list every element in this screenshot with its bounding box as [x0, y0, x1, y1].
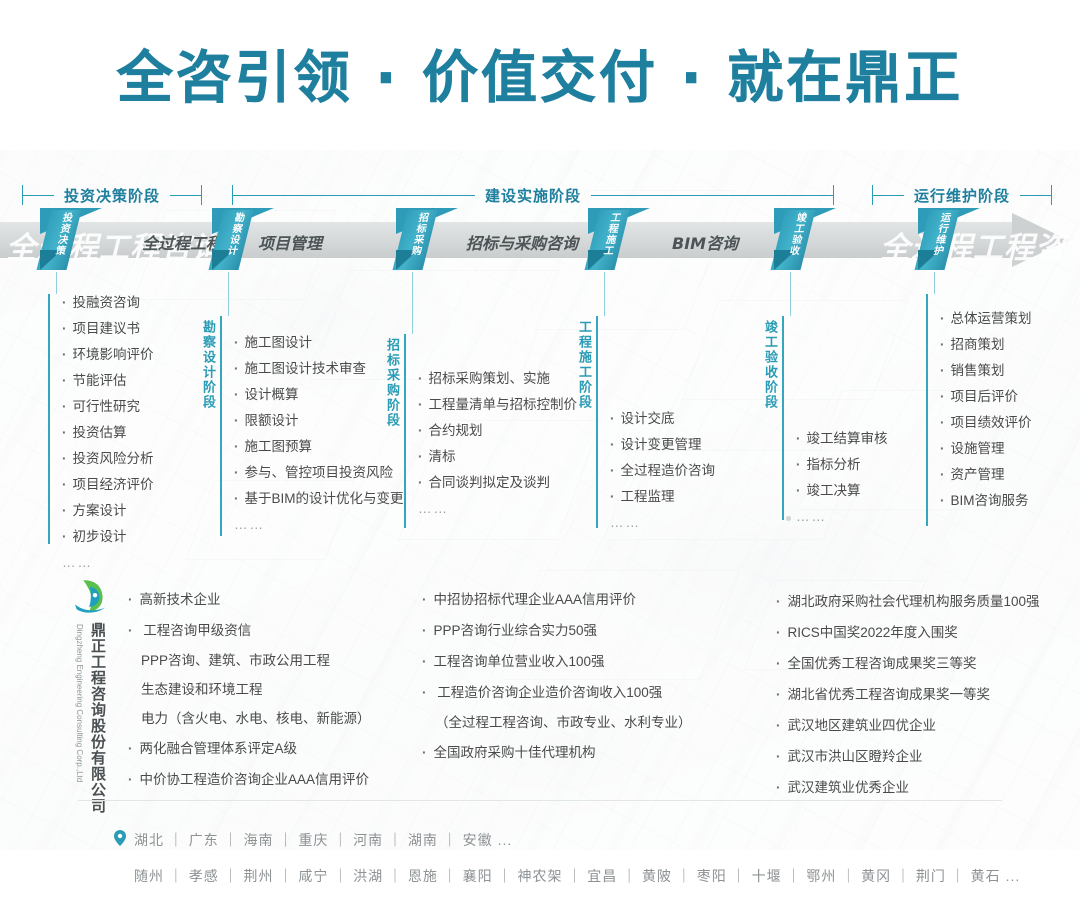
credential-item: 武汉地区建筑业四优企业	[776, 710, 1040, 741]
list-item: 投融资咨询	[62, 290, 154, 316]
phase-header-rail: 投资决策阶段 建设实施阶段 运行维护阶段	[0, 178, 1080, 212]
ribbon-tab-investment-decision[interactable]: 投资决策	[40, 208, 104, 272]
column-rule	[404, 334, 406, 528]
list-item: 工程监理	[610, 484, 715, 510]
credential-subline: （全过程工程咨询、市政专业、水利专业）	[435, 708, 692, 737]
list-item: BIM咨询服务	[940, 488, 1032, 514]
list-item: 清标	[418, 444, 577, 470]
phase-line-right	[1020, 195, 1051, 196]
phase-line-left	[233, 195, 475, 196]
ribbon-segment-bidding-procurement: 招标与采购咨询	[466, 230, 578, 252]
credentials-column-1: 高新技术企业 工程咨询甲级资信 PPP咨询、建筑、市政公用工程 生态建设和环境工…	[128, 584, 371, 795]
credential-item: 武汉市洪山区瞪羚企业	[776, 741, 1040, 772]
credential-subline: 电力（含火电、水电、核电、新能源）	[141, 704, 371, 733]
list-item: 项目经济评价	[62, 472, 154, 498]
credential-item: RICS中国奖2022年度入围奖	[776, 617, 1040, 648]
list-item: 总体运营策划	[940, 306, 1032, 332]
column-item-list: 竣工结算审核 指标分析 竣工决算 ……	[796, 426, 888, 530]
list-ellipsis: ……	[796, 504, 888, 530]
phase-label-construction: 建设实施阶段	[475, 185, 591, 206]
list-item: 设计变更管理	[610, 432, 715, 458]
page-title: 全咨引领 · 价值交付 · 就在鼎正	[117, 48, 964, 110]
company-logo-icon	[70, 576, 110, 616]
page-title-area: 全咨引领 · 价值交付 · 就在鼎正 鼎 正	[0, 48, 1080, 110]
list-item: 项目建议书	[62, 316, 154, 342]
list-item: 资产管理	[940, 462, 1032, 488]
footer-provinces: 湖北 ｜ 广东 ｜ 海南 ｜ 重庆 ｜ 河南 ｜ 湖南 ｜ 安徽 ...	[134, 830, 512, 850]
footer-cities: 随州 ｜ 孝感 ｜ 荆州 ｜ 咸宁 ｜ 洪湖 ｜ 恩施 ｜ 襄阳 ｜ 神农架 ｜…	[134, 866, 1020, 886]
column-stage-label: 竣工验收阶段	[760, 320, 777, 410]
list-item: 节能评估	[62, 368, 154, 394]
phase-group-construction: 建设实施阶段	[232, 178, 834, 212]
connector-line-6	[934, 272, 935, 294]
ribbon-tab-completion-acceptance[interactable]: 竣工验收	[774, 208, 838, 272]
phase-label-investment: 投资决策阶段	[54, 185, 170, 206]
credential-text: 工程咨询甲级资信	[143, 623, 251, 638]
list-item: 合约规划	[418, 418, 577, 444]
list-item: 设施管理	[940, 436, 1032, 462]
credential-item: 湖北省优秀工程咨询成果奖一等奖	[776, 679, 1040, 710]
list-item: 竣工决算	[796, 478, 888, 504]
credentials-column-2: 中招协招标代理企业AAA信用评价 PPP咨询行业综合实力50强 工程咨询单位营业…	[422, 584, 692, 768]
list-item: 施工图预算	[234, 434, 404, 460]
list-item: 环境影响评价	[62, 342, 154, 368]
credential-item: PPP咨询行业综合实力50强	[422, 615, 692, 646]
list-item: 竣工结算审核	[796, 426, 888, 452]
ribbon-tab-construction[interactable]: 工程施工	[588, 208, 652, 272]
process-ribbon-arrow: 全过程工程咨询 全过程工程咨询 全过程工程 项目管理 招标与采购咨询 BIM咨询…	[0, 222, 1080, 258]
phase-line-left	[23, 195, 54, 196]
phase-group-investment: 投资决策阶段	[22, 178, 202, 212]
column-rule	[220, 316, 222, 536]
credential-item: 全国政府采购十佳代理机构	[422, 737, 692, 768]
phase-line-left	[873, 195, 904, 196]
list-item: 参与、管控项目投资风险	[234, 460, 404, 486]
connector-line-4	[604, 272, 605, 316]
credential-item: 中价协工程造价咨询企业AAA信用评价	[128, 764, 371, 795]
phase-cap-right	[833, 185, 834, 205]
connector-dot-5	[786, 516, 791, 521]
credential-item: 工程咨询甲级资信 PPP咨询、建筑、市政公用工程 生态建设和环境工程 电力（含火…	[128, 615, 371, 733]
column-item-list: 施工图设计 施工图设计技术审查 设计概算 限额设计 施工图预算 参与、管控项目投…	[234, 330, 404, 538]
credential-item: 工程造价咨询企业造价咨询收入100强 （全过程工程咨询、市政专业、水利专业）	[422, 677, 692, 737]
list-item: 基于BIM的设计优化与变更	[234, 486, 404, 512]
credentials-column-3: 湖北政府采购社会代理机构服务质量100强 RICS中国奖2022年度入围奖 全国…	[776, 586, 1040, 803]
column-stage-label: 招标采购阶段	[382, 338, 399, 428]
column-rule	[596, 316, 598, 528]
column-rule	[926, 294, 928, 526]
column-stage-label: 勘察设计阶段	[198, 320, 215, 410]
list-ellipsis: ……	[234, 512, 404, 538]
list-item: 项目后评价	[940, 384, 1032, 410]
list-item: 施工图设计技术审查	[234, 356, 404, 382]
column-item-list: 招标采购策划、实施 工程量清单与招标控制价 合约规划 清标 合同谈判拟定及谈判 …	[418, 366, 577, 522]
phase-label-operation: 运行维护阶段	[904, 185, 1020, 206]
list-ellipsis: ……	[418, 496, 577, 522]
list-item: 设计概算	[234, 382, 404, 408]
company-name-en: Dingzheng Engineering Consulting Corp.,L…	[72, 624, 84, 782]
connector-line-5	[790, 272, 791, 316]
company-name-cn: 鼎正工程咨询股份有限公司	[88, 622, 106, 814]
credential-text: 工程造价咨询企业造价咨询收入100强	[437, 685, 662, 700]
list-item: 招标采购策划、实施	[418, 366, 577, 392]
phase-cap-right	[201, 185, 202, 205]
phase-line-right	[591, 195, 833, 196]
credential-subline: 生态建设和环境工程	[141, 675, 371, 704]
list-item: 可行性研究	[62, 394, 154, 420]
credential-subline: PPP咨询、建筑、市政公用工程	[141, 646, 371, 675]
column-stage-label: 工程施工阶段	[574, 320, 591, 410]
column-item-list: 总体运营策划 招商策划 销售策划 项目后评价 项目绩效评价 设施管理 资产管理 …	[940, 306, 1032, 514]
ribbon-segment-bim: BIM咨询	[672, 230, 738, 252]
column-item-list: 设计交底 设计变更管理 全过程造价咨询 工程监理 ……	[610, 406, 715, 536]
credential-item: 工程咨询单位营业收入100强	[422, 646, 692, 677]
column-rule	[782, 316, 784, 520]
column-rule	[48, 294, 50, 544]
footer-divider	[78, 800, 1002, 801]
list-item: 合同谈判拟定及谈判	[418, 470, 577, 496]
credential-item: 武汉建筑业优秀企业	[776, 772, 1040, 803]
company-logo-block: 鼎正工程咨询股份有限公司 Dingzheng Engineering Consu…	[66, 576, 118, 621]
list-ellipsis: ……	[610, 510, 715, 536]
list-item: 投资估算	[62, 420, 154, 446]
phase-line-right	[170, 195, 201, 196]
credential-item: 全国优秀工程咨询成果奖三等奖	[776, 648, 1040, 679]
credential-item: 湖北政府采购社会代理机构服务质量100强	[776, 586, 1040, 617]
list-item: 指标分析	[796, 452, 888, 478]
credential-item: 中招协招标代理企业AAA信用评价	[422, 584, 692, 615]
ribbon-segment-whole-process: 全过程工程	[142, 230, 222, 252]
list-item: 项目绩效评价	[940, 410, 1032, 436]
list-item: 设计交底	[610, 406, 715, 432]
list-item: 招商策划	[940, 332, 1032, 358]
connector-line-2	[228, 272, 229, 316]
list-item: 初步设计	[62, 524, 154, 550]
ribbon-tab-operation-maintenance[interactable]: 运行维护	[918, 208, 982, 272]
connector-line-1	[56, 272, 57, 294]
connector-line-3	[412, 272, 413, 334]
ribbon-tab-survey-design[interactable]: 勘察设计	[212, 208, 276, 272]
location-pin-icon	[114, 830, 126, 846]
credential-item: 高新技术企业	[128, 584, 371, 615]
column-item-list: 投融资咨询 项目建议书 环境影响评价 节能评估 可行性研究 投资估算 投资风险分…	[62, 290, 154, 576]
list-item: 施工图设计	[234, 330, 404, 356]
list-item: 销售策划	[940, 358, 1032, 384]
list-item: 全过程造价咨询	[610, 458, 715, 484]
ribbon-tab-bidding-procurement[interactable]: 招标采购	[396, 208, 460, 272]
list-item: 投资风险分析	[62, 446, 154, 472]
list-item: 方案设计	[62, 498, 154, 524]
credential-item: 两化融合管理体系评定A级	[128, 733, 371, 764]
list-item: 限额设计	[234, 408, 404, 434]
phase-cap-right	[1051, 185, 1052, 205]
phase-group-operation: 运行维护阶段	[872, 178, 1052, 212]
list-item: 工程量清单与招标控制价	[418, 392, 577, 418]
credentials-band: 鼎正工程咨询股份有限公司 Dingzheng Engineering Consu…	[0, 572, 1080, 790]
